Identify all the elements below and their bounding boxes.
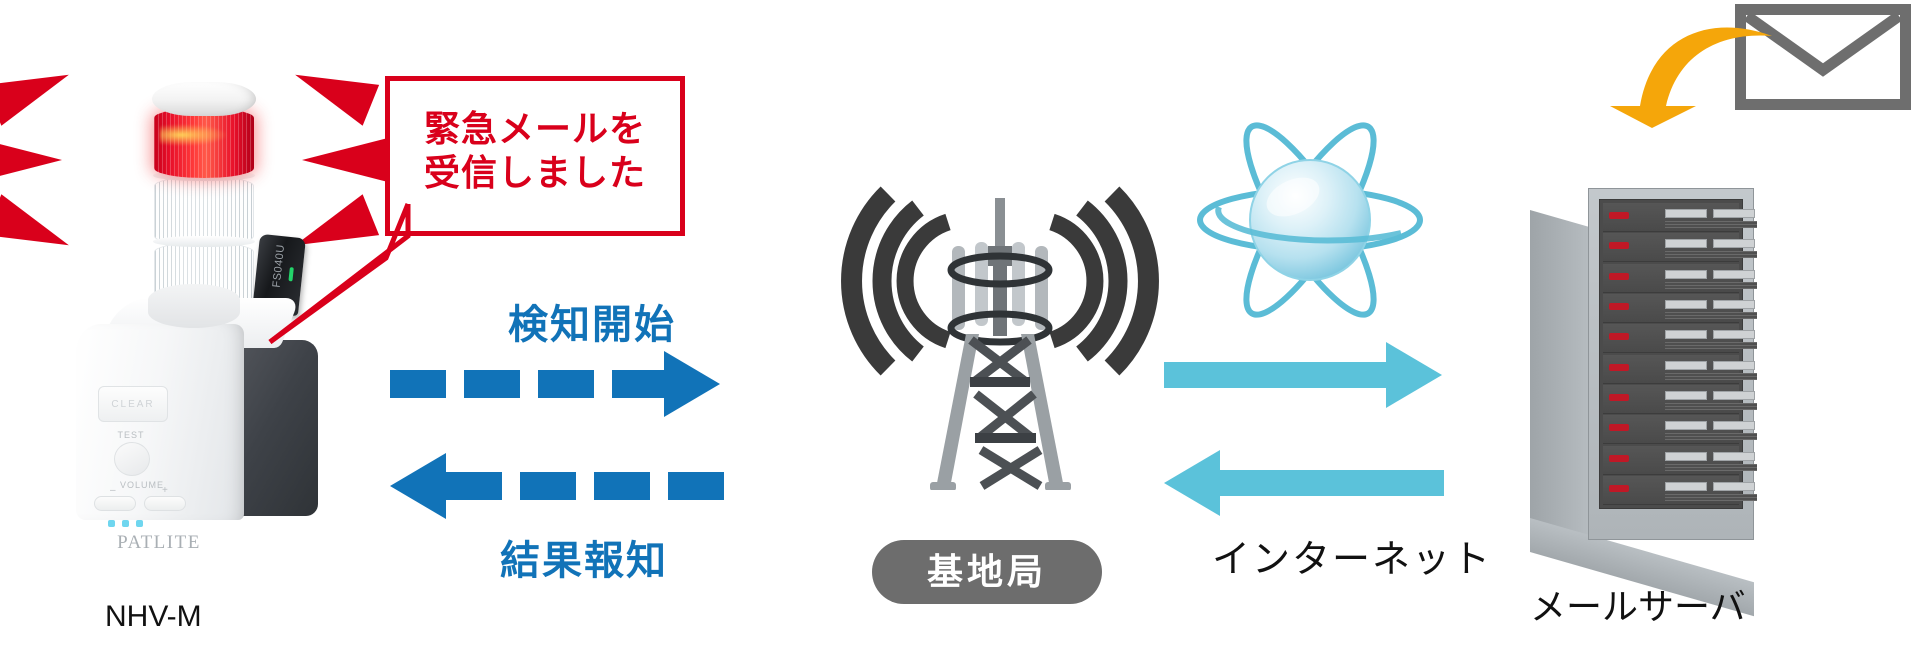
rack-slot bbox=[1603, 385, 1739, 414]
flow-internet-out bbox=[1164, 340, 1458, 410]
device-base-neck bbox=[148, 284, 240, 328]
rack-slot bbox=[1603, 264, 1739, 293]
rack-slot bbox=[1603, 476, 1739, 505]
test-button[interactable] bbox=[114, 442, 150, 476]
rack-slot bbox=[1603, 446, 1739, 475]
globe-orbit-icon bbox=[1195, 105, 1425, 335]
flow-internet-in bbox=[1164, 448, 1458, 518]
flow-detection-start bbox=[390, 350, 810, 420]
volume-down-button[interactable] bbox=[94, 496, 136, 511]
cell-tower-icon bbox=[840, 150, 1160, 490]
rack-front-panel bbox=[1588, 188, 1754, 540]
volume-up-button[interactable] bbox=[144, 496, 186, 511]
rack-slot bbox=[1603, 233, 1739, 262]
rack-slot bbox=[1603, 294, 1739, 323]
arrow-head-left-icon bbox=[390, 453, 446, 519]
tower-segment-red-lit bbox=[154, 108, 254, 178]
flow-label-detection-start: 検知開始 bbox=[508, 292, 676, 350]
patlite-logo: PATLITE bbox=[84, 532, 234, 554]
rack-slot bbox=[1603, 415, 1739, 444]
base-station-label: 基地局 bbox=[872, 540, 1102, 604]
rack-side-panel bbox=[1530, 210, 1592, 564]
rack-slot bbox=[1603, 355, 1739, 384]
flow-label-result-report: 結果報知 bbox=[500, 528, 668, 586]
arrow-head-right-icon bbox=[1386, 342, 1442, 408]
tower-ring bbox=[153, 236, 255, 247]
speech-bubble-text: 緊急メールを 受信しました bbox=[390, 81, 680, 195]
base-station-badge: 基地局 bbox=[872, 540, 1102, 604]
device-base-side-panel bbox=[232, 340, 318, 516]
alert-rays-icon bbox=[0, 60, 108, 310]
speech-bubble-line-1: 緊急メールを bbox=[390, 107, 680, 151]
mail-server-caption: メールサーバ bbox=[1530, 578, 1746, 630]
arrow-head-right-icon bbox=[664, 351, 720, 417]
volume-label: VOLUME bbox=[92, 480, 192, 490]
rack-slots bbox=[1599, 199, 1743, 509]
nhv-m-caption: NHV-M bbox=[105, 600, 202, 634]
tower-cap bbox=[152, 82, 256, 116]
rack-slot bbox=[1603, 324, 1739, 353]
speech-bubble-tail bbox=[268, 200, 528, 350]
clear-button[interactable]: CLEAR bbox=[98, 386, 168, 422]
status-leds bbox=[108, 520, 164, 528]
mail-server-rack bbox=[1530, 188, 1780, 568]
volume-controls: – + bbox=[94, 494, 190, 512]
device-base-front: CLEAR TEST VOLUME – + PATLITE bbox=[76, 324, 244, 520]
flow-label-internet: インターネット bbox=[1212, 528, 1492, 583]
speech-bubble-line-2: 受信しました bbox=[390, 151, 680, 195]
test-button-label: TEST bbox=[100, 430, 162, 440]
volume-plus-sign: + bbox=[162, 485, 168, 496]
clear-button-label: CLEAR bbox=[99, 387, 167, 423]
diagram-canvas: FS040U CLEAR TEST VOLUME – + PA bbox=[0, 0, 1927, 664]
arrow-head-left-icon bbox=[1164, 450, 1220, 516]
curved-arrow-icon bbox=[1600, 8, 1780, 128]
flow-result-report bbox=[390, 452, 820, 522]
volume-minus-sign: – bbox=[110, 485, 116, 496]
rack-slot bbox=[1603, 203, 1739, 232]
